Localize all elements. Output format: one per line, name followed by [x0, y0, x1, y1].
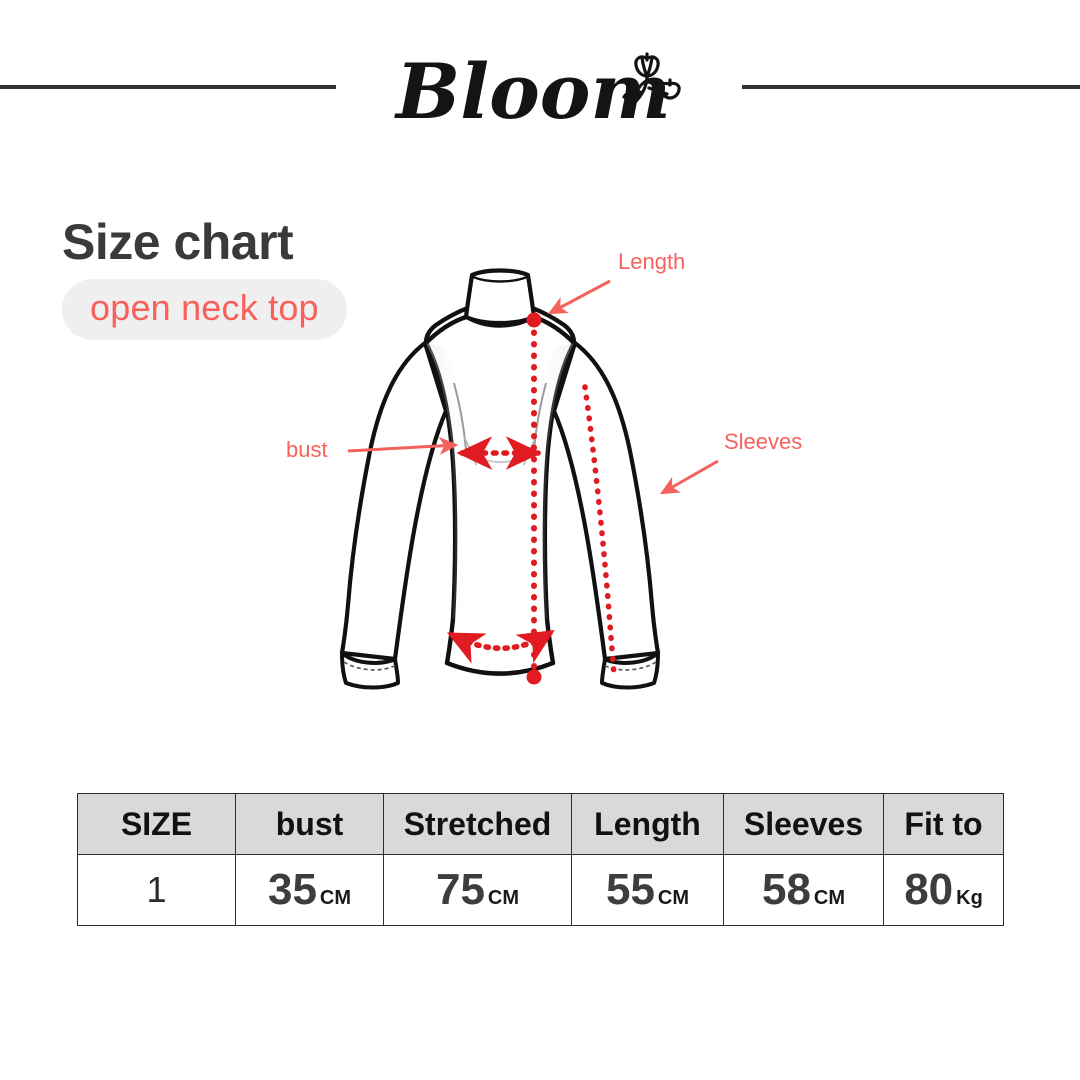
- brand-wordmark: Bloom: [394, 47, 671, 136]
- garment-illustration: Length bust Sleeves: [250, 225, 850, 725]
- cell-size: 1: [78, 855, 236, 926]
- cell-stretched-unit: CM: [488, 887, 519, 909]
- cell-sleeves: 58CM: [724, 855, 884, 926]
- size-chart-table-wrapper: SIZE bust Stretched Length Sleeves Fit t…: [77, 793, 1003, 926]
- annotation-length: Length: [550, 249, 685, 313]
- table-header-length: Length: [572, 794, 724, 855]
- annotation-sleeves-label: Sleeves: [724, 429, 802, 454]
- cell-length: 55CM: [572, 855, 724, 926]
- header-rule-left: [0, 85, 336, 89]
- table-header-stretched: Stretched: [384, 794, 572, 855]
- cell-sleeves-unit: CM: [814, 887, 845, 909]
- header-rule-right: [742, 85, 1080, 89]
- cell-bust-value: 35: [268, 865, 317, 914]
- size-chart-table: SIZE bust Stretched Length Sleeves Fit t…: [77, 793, 1004, 926]
- cell-length-value: 55: [606, 865, 655, 914]
- cell-fit-to-value: 80: [904, 865, 953, 914]
- table-header-size: SIZE: [78, 794, 236, 855]
- annotation-length-label: Length: [618, 249, 685, 274]
- flower-icon: [624, 54, 679, 108]
- brand-logo: Bloom: [0, 34, 1080, 157]
- table-header-bust: bust: [236, 794, 384, 855]
- table-row: 1 35CM 75CM 55CM 58CM 80Kg: [78, 855, 1004, 926]
- cell-sleeves-value: 58: [762, 865, 811, 914]
- annotation-sleeves: Sleeves: [662, 429, 802, 493]
- cell-fit-to: 80Kg: [884, 855, 1004, 926]
- cell-stretched: 75CM: [384, 855, 572, 926]
- cell-stretched-value: 75: [436, 865, 485, 914]
- table-header-row: SIZE bust Stretched Length Sleeves Fit t…: [78, 794, 1004, 855]
- brand-header: Bloom: [0, 0, 1080, 160]
- cell-bust: 35CM: [236, 855, 384, 926]
- table-header-fit-to: Fit to: [884, 794, 1004, 855]
- cell-bust-unit: CM: [320, 887, 351, 909]
- table-header-sleeves: Sleeves: [724, 794, 884, 855]
- annotation-bust-label: bust: [286, 437, 328, 462]
- cell-fit-to-unit: Kg: [956, 887, 983, 909]
- cell-length-unit: CM: [658, 887, 689, 909]
